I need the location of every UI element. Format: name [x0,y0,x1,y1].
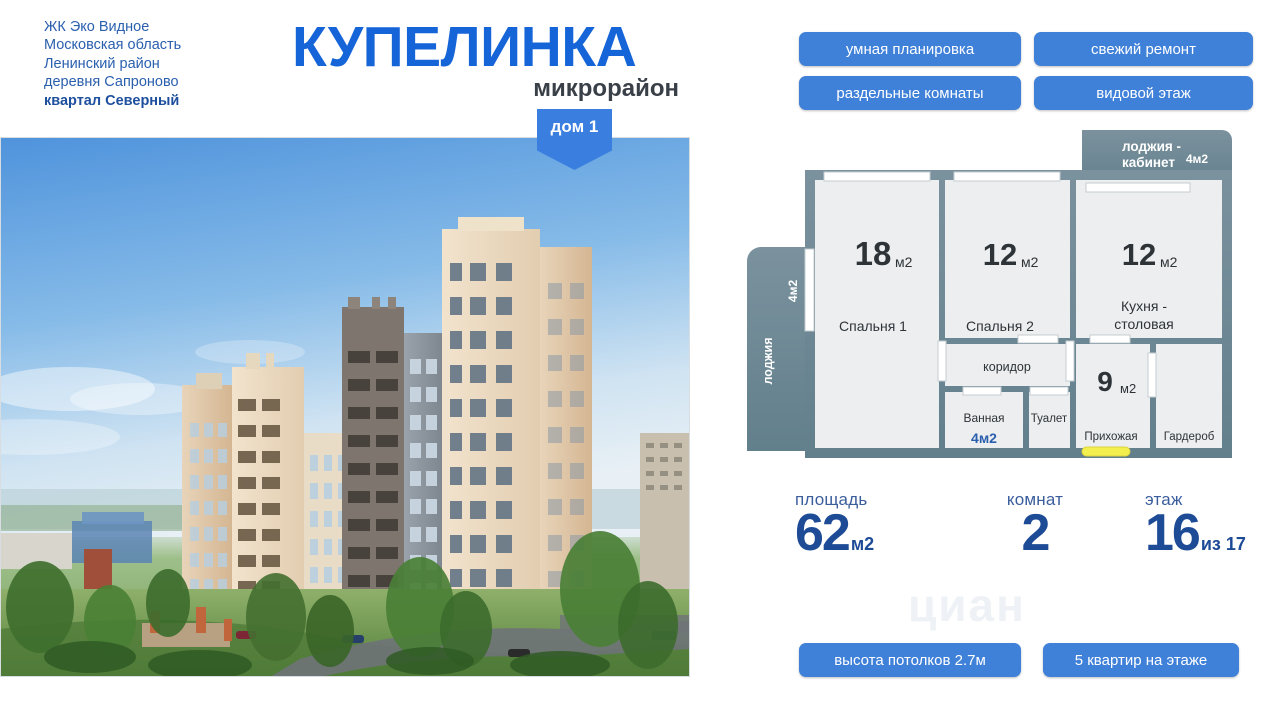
brand-subtitle: микрорайон [292,76,687,102]
bath-area: 4м2 [971,430,997,446]
loggia-office-label-1: лоджия - [1122,139,1181,154]
stat-rooms: комнат 2 [990,490,1080,560]
feature-pill-separate-rooms[interactable]: раздельные комнаты [799,76,1021,110]
stat-floor-total: из 17 [1201,534,1246,555]
right-panel: умная планировка свежий ремонт раздельны… [690,0,1280,712]
hall-area-unit: м2 [1120,381,1136,396]
address-line-3: Ленинский район [44,55,284,73]
address-block: ЖК Эко Видное Московская область Ленинск… [44,18,284,110]
bedroom2-name: Спальня 2 [966,318,1034,334]
summary-stats: площадь 62 м2 комнат 2 этаж 16 из 17 [750,490,1250,590]
bedroom1-area-unit: м2 [895,254,913,270]
stat-area-unit: м2 [851,534,874,555]
wardrobe-name: Гардероб [1164,431,1215,443]
floor-plan[interactable]: лоджия - кабинет 4м2 лоджия 4м2 [742,125,1232,470]
address-line-4: деревня Сапроново [44,73,284,91]
hall-name: Прихожая [1084,431,1137,443]
address-line-2: Московская область [44,36,284,54]
brand-block: КУПЕЛИНКА микрорайон [292,19,687,102]
address-quarter: квартал Северный [44,92,284,110]
loggia-office-area: 4м2 [1186,152,1209,166]
bedroom2-area: 12 [983,237,1017,272]
listing-infographic: ЖК Эко Видное Московская область Ленинск… [0,0,1280,712]
hall-area: 9 [1097,366,1113,397]
kitchen-name-1: Кухня - [1121,298,1167,314]
bath-name: Ванная [963,411,1004,425]
left-panel: ЖК Эко Видное Московская область Ленинск… [0,0,690,712]
kitchen-area: 12 [1122,237,1156,272]
stat-area-value: 62 [795,506,849,560]
kitchen-name-2: столовая [1114,316,1174,332]
loggia-left-label: лоджия [761,337,775,384]
building-photo [0,137,690,677]
corridor-name: коридор [983,360,1031,374]
entrance-door-marker [1082,447,1130,456]
feature-pill-ceiling-height[interactable]: высота потолков 2.7м [799,643,1021,677]
feature-pill-smart-layout[interactable]: умная планировка [799,32,1021,66]
stat-floor: этаж 16 из 17 [1145,490,1246,560]
bedroom2-area-unit: м2 [1021,254,1039,270]
bedroom1-name: Спальня 1 [839,318,907,334]
loggia-left-area: 4м2 [786,280,800,303]
wc-name: Туалет [1031,413,1068,425]
page-title: КУПЕЛИНКА [292,19,687,76]
stat-floor-value: 16 [1145,506,1199,560]
address-line-1: ЖК Эко Видное [44,18,284,36]
stat-rooms-value: 2 [1022,506,1049,560]
feature-pill-fresh-renovation[interactable]: свежий ремонт [1034,32,1253,66]
stat-area: площадь 62 м2 [795,490,874,560]
feature-pill-view-floor[interactable]: видовой этаж [1034,76,1253,110]
bedroom1-area: 18 [855,235,892,272]
loggia-office-label-2: кабинет [1122,155,1175,170]
feature-pill-flats-per-floor[interactable]: 5 квартир на этаже [1043,643,1239,677]
kitchen-area-unit: м2 [1160,254,1178,270]
